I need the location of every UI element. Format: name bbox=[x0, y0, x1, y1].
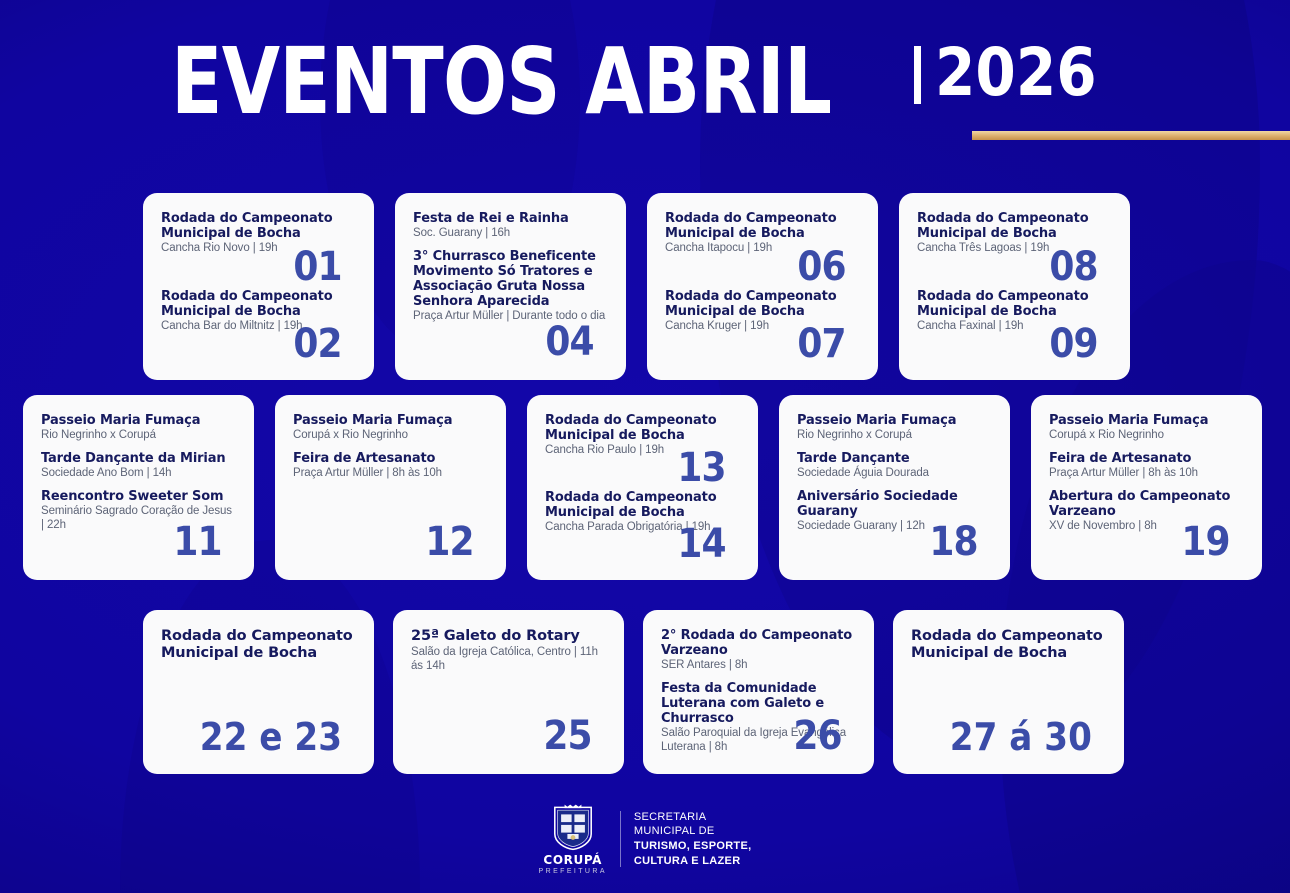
event-day-number: 14 bbox=[678, 524, 726, 564]
event-subtitle: Praça Artur Müller | 8h às 10h bbox=[1049, 467, 1244, 481]
event-card[interactable]: Rodada do Campeonato Municipal de Bocha2… bbox=[143, 610, 374, 774]
event-block: Passeio Maria FumaçaRio Negrinho x Corup… bbox=[797, 413, 992, 443]
event-title: Rodada do Campeonato Municipal de Bocha bbox=[161, 628, 356, 663]
event-card-inner: Passeio Maria FumaçaRio Negrinho x Corup… bbox=[797, 413, 992, 566]
event-card[interactable]: Rodada do Campeonato Municipal de BochaC… bbox=[143, 193, 374, 380]
event-card[interactable]: 2° Rodada do Campeonato VarzeanoSER Anta… bbox=[643, 610, 874, 774]
event-title: 25ª Galeto do Rotary bbox=[411, 628, 606, 645]
event-title: Rodada do Campeonato Municipal de Bocha bbox=[161, 211, 356, 241]
crest-city-subtitle: PREFEITURA bbox=[539, 868, 607, 875]
event-block: Rodada do Campeonato Municipal de Bocha bbox=[911, 628, 1106, 663]
event-title: Reencontro Sweeter Som bbox=[41, 489, 236, 504]
event-day-number: 11 bbox=[174, 522, 222, 562]
event-day-number: 12 bbox=[426, 522, 474, 562]
event-block: Tarde DançanteSociedade Águia Dourada bbox=[797, 451, 992, 481]
event-card-inner: Passeio Maria FumaçaCorupá x Rio Negrinh… bbox=[1049, 413, 1244, 566]
event-card-inner: Rodada do Campeonato Municipal de BochaC… bbox=[665, 211, 860, 366]
event-title: 2° Rodada do Campeonato Varzeano bbox=[661, 628, 856, 658]
footer-line: TURISMO, ESPORTE, bbox=[634, 839, 752, 854]
event-day-slot: Rodada do Campeonato Municipal de BochaC… bbox=[665, 289, 860, 367]
event-block: Rodada do Campeonato Municipal de Bocha bbox=[161, 628, 356, 663]
event-day-slot: Passeio Maria FumaçaRio Negrinho x Corup… bbox=[41, 413, 236, 566]
footer-line: SECRETARIA bbox=[634, 810, 752, 825]
event-card[interactable]: Rodada do Campeonato Municipal de Bocha2… bbox=[893, 610, 1124, 774]
event-subtitle: Sociedade Ano Bom | 14h bbox=[41, 467, 236, 481]
page-title: EVENTOS ABRIL bbox=[171, 38, 831, 125]
event-title: Feira de Artesanato bbox=[1049, 451, 1244, 466]
event-day-number: 27 á 30 bbox=[950, 718, 1092, 756]
poster-header: EVENTOS ABRIL 2026 bbox=[0, 38, 1290, 158]
event-day-slot: Passeio Maria FumaçaCorupá x Rio Negrinh… bbox=[1049, 413, 1244, 566]
event-day-slot: 25ª Galeto do RotarySalão da Igreja Cató… bbox=[411, 628, 606, 760]
event-card-inner: Passeio Maria FumaçaRio Negrinho x Corup… bbox=[41, 413, 236, 566]
event-day-number: 01 bbox=[294, 247, 342, 287]
event-card[interactable]: Rodada do Campeonato Municipal de BochaC… bbox=[899, 193, 1130, 380]
event-title: Festa de Rei e Rainha bbox=[413, 211, 608, 226]
event-title: Rodada do Campeonato Municipal de Bocha bbox=[665, 289, 860, 319]
event-card-inner: Rodada do Campeonato Municipal de Bocha2… bbox=[911, 628, 1106, 760]
event-day-number: 08 bbox=[1050, 247, 1098, 287]
event-subtitle: Corupá x Rio Negrinho bbox=[293, 429, 488, 443]
event-card-inner: Rodada do Campeonato Municipal de Bocha2… bbox=[161, 628, 356, 760]
event-card[interactable]: Rodada do Campeonato Municipal de BochaC… bbox=[647, 193, 878, 380]
title-divider bbox=[914, 46, 921, 104]
event-card-inner: Festa de Rei e RainhaSoc. Guarany | 16h3… bbox=[413, 211, 608, 366]
event-block: 25ª Galeto do RotarySalão da Igreja Cató… bbox=[411, 628, 606, 674]
event-card[interactable]: Festa de Rei e RainhaSoc. Guarany | 16h3… bbox=[395, 193, 626, 380]
event-day-number: 04 bbox=[546, 322, 594, 362]
event-title: Passeio Maria Fumaça bbox=[41, 413, 236, 428]
event-block: Feira de ArtesanatoPraça Artur Müller | … bbox=[293, 451, 488, 481]
event-block: 2° Rodada do Campeonato VarzeanoSER Anta… bbox=[661, 628, 856, 673]
event-day-slot: Festa de Rei e RainhaSoc. Guarany | 16h3… bbox=[413, 211, 608, 366]
event-title: Aniversário Sociedade Guarany bbox=[797, 489, 992, 519]
event-title: Rodada do Campeonato Municipal de Bocha bbox=[545, 413, 740, 443]
title-year: 2026 bbox=[935, 42, 1097, 105]
crest-wrap: CORUPÁ PREFEITURA bbox=[539, 803, 607, 875]
title-wrap: EVENTOS ABRIL 2026 bbox=[171, 38, 1119, 125]
event-card[interactable]: Passeio Maria FumaçaCorupá x Rio Negrinh… bbox=[275, 395, 506, 580]
event-card-inner: Rodada do Campeonato Municipal de BochaC… bbox=[161, 211, 356, 366]
event-subtitle: Corupá x Rio Negrinho bbox=[1049, 429, 1244, 443]
event-block: Passeio Maria FumaçaRio Negrinho x Corup… bbox=[41, 413, 236, 443]
event-row-3: Rodada do Campeonato Municipal de Bocha2… bbox=[143, 610, 1124, 774]
event-title: Rodada do Campeonato Municipal de Bocha bbox=[665, 211, 860, 241]
event-day-slot: Rodada do Campeonato Municipal de BochaC… bbox=[161, 211, 356, 289]
event-title: Passeio Maria Fumaça bbox=[797, 413, 992, 428]
event-day-slot: Rodada do Campeonato Municipal de BochaC… bbox=[917, 289, 1112, 367]
event-title: Rodada do Campeonato Municipal de Bocha bbox=[161, 289, 356, 319]
event-block: 3° Churrasco Beneficente Movimento Só Tr… bbox=[413, 249, 608, 324]
title-year-row: 2026 bbox=[914, 42, 1119, 105]
event-card-inner: Passeio Maria FumaçaCorupá x Rio Negrinh… bbox=[293, 413, 488, 566]
event-subtitle: Rio Negrinho x Corupá bbox=[41, 429, 236, 443]
event-day-number: 18 bbox=[930, 522, 978, 562]
event-card[interactable]: 25ª Galeto do RotarySalão da Igreja Cató… bbox=[393, 610, 624, 774]
event-day-slot: Rodada do Campeonato Municipal de BochaC… bbox=[917, 211, 1112, 289]
event-day-number: 26 bbox=[794, 716, 842, 756]
event-day-slot: 2° Rodada do Campeonato VarzeanoSER Anta… bbox=[661, 628, 856, 760]
event-subtitle: Praça Artur Müller | 8h às 10h bbox=[293, 467, 488, 481]
event-day-number: 25 bbox=[544, 716, 592, 756]
event-title: Tarde Dançante bbox=[797, 451, 992, 466]
crest-city-name: CORUPÁ bbox=[543, 853, 602, 867]
event-title: Rodada do Campeonato Municipal de Bocha bbox=[917, 211, 1112, 241]
title-accent-rule bbox=[972, 131, 1290, 140]
footer-line: CULTURA E LAZER bbox=[634, 854, 752, 869]
event-day-slot: Rodada do Campeonato Municipal de BochaC… bbox=[545, 413, 740, 490]
event-day-slot: Rodada do Campeonato Municipal de BochaC… bbox=[545, 490, 740, 567]
coat-of-arms-icon bbox=[552, 803, 594, 851]
event-card-inner: 25ª Galeto do RotarySalão da Igreja Cató… bbox=[411, 628, 606, 760]
event-title: Tarde Dançante da Mirian bbox=[41, 451, 236, 466]
title-year-group: 2026 bbox=[914, 42, 1119, 105]
event-title: Passeio Maria Fumaça bbox=[1049, 413, 1244, 428]
event-row-1: Rodada do Campeonato Municipal de BochaC… bbox=[143, 193, 1130, 380]
event-day-number: 22 e 23 bbox=[200, 718, 342, 756]
event-day-slot: Rodada do Campeonato Municipal de BochaC… bbox=[161, 289, 356, 367]
event-day-slot: Passeio Maria FumaçaCorupá x Rio Negrinh… bbox=[293, 413, 488, 566]
event-title: Passeio Maria Fumaça bbox=[293, 413, 488, 428]
event-card-inner: Rodada do Campeonato Municipal de BochaC… bbox=[545, 413, 740, 566]
event-title: Rodada do Campeonato Municipal de Bocha bbox=[545, 490, 740, 520]
event-day-number: 07 bbox=[798, 324, 846, 364]
event-block: Tarde Dançante da MirianSociedade Ano Bo… bbox=[41, 451, 236, 481]
event-card-inner: Rodada do Campeonato Municipal de BochaC… bbox=[917, 211, 1112, 366]
event-title: Rodada do Campeonato Municipal de Bocha bbox=[911, 628, 1106, 663]
event-subtitle: SER Antares | 8h bbox=[661, 659, 856, 673]
event-card[interactable]: Rodada do Campeonato Municipal de BochaC… bbox=[527, 395, 758, 580]
event-day-number: 02 bbox=[294, 324, 342, 364]
event-block: Passeio Maria FumaçaCorupá x Rio Negrinh… bbox=[293, 413, 488, 443]
event-subtitle: Salão da Igreja Católica, Centro | 11h á… bbox=[411, 646, 606, 674]
event-title: Feira de Artesanato bbox=[293, 451, 488, 466]
event-row-2: Passeio Maria FumaçaRio Negrinho x Corup… bbox=[23, 395, 1262, 580]
event-day-number: 06 bbox=[798, 247, 846, 287]
event-day-number: 13 bbox=[678, 448, 726, 488]
event-day-number: 09 bbox=[1050, 324, 1098, 364]
event-subtitle: Sociedade Águia Dourada bbox=[797, 467, 992, 481]
event-day-slot: Passeio Maria FumaçaRio Negrinho x Corup… bbox=[797, 413, 992, 566]
footer-divider bbox=[620, 811, 621, 867]
event-title: Rodada do Campeonato Municipal de Bocha bbox=[917, 289, 1112, 319]
event-day-slot: Rodada do Campeonato Municipal de Bocha2… bbox=[911, 628, 1106, 760]
event-card-inner: 2° Rodada do Campeonato VarzeanoSER Anta… bbox=[661, 628, 856, 760]
event-subtitle: Soc. Guarany | 16h bbox=[413, 227, 608, 241]
event-day-slot: Rodada do Campeonato Municipal de BochaC… bbox=[665, 211, 860, 289]
event-block: Festa de Rei e RainhaSoc. Guarany | 16h bbox=[413, 211, 608, 241]
footer-department: SECRETARIAMUNICIPAL DETURISMO, ESPORTE,C… bbox=[634, 810, 752, 869]
poster-footer: CORUPÁ PREFEITURA SECRETARIAMUNICIPAL DE… bbox=[0, 803, 1290, 875]
event-card[interactable]: Passeio Maria FumaçaCorupá x Rio Negrinh… bbox=[1031, 395, 1262, 580]
event-day-number: 19 bbox=[1182, 522, 1230, 562]
event-subtitle: Rio Negrinho x Corupá bbox=[797, 429, 992, 443]
event-title: Abertura do Campeonato Varzeano bbox=[1049, 489, 1244, 519]
event-card[interactable]: Passeio Maria FumaçaRio Negrinho x Corup… bbox=[23, 395, 254, 580]
footer-line: MUNICIPAL DE bbox=[634, 824, 752, 839]
event-block: Feira de ArtesanatoPraça Artur Müller | … bbox=[1049, 451, 1244, 481]
event-card[interactable]: Passeio Maria FumaçaRio Negrinho x Corup… bbox=[779, 395, 1010, 580]
event-title: 3° Churrasco Beneficente Movimento Só Tr… bbox=[413, 249, 608, 309]
event-block: Passeio Maria FumaçaCorupá x Rio Negrinh… bbox=[1049, 413, 1244, 443]
event-day-slot: Rodada do Campeonato Municipal de Bocha2… bbox=[161, 628, 356, 760]
